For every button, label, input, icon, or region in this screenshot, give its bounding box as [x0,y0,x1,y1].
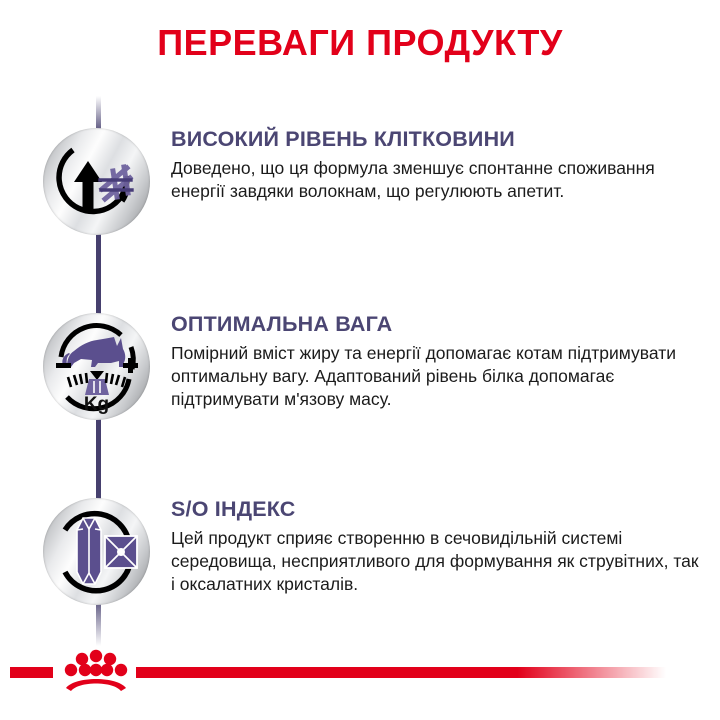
urinary-crystals-icon [43,498,150,605]
footer-bar-left [10,667,53,678]
benefit-heading: ОПТИМАЛЬНА ВАГА [171,313,699,336]
benefit-copy: ОПТИМАЛЬНА ВАГА Помірний вміст жиру та е… [171,313,699,411]
benefit-body: Доведено, що ця формула зменшує спонтанн… [171,157,699,203]
benefit-copy: ВИСОКИЙ РІВЕНЬ КЛІТКОВИНИ Доведено, що ц… [171,128,699,203]
product-benefits-page: ПЕРЕВАГИ ПРОДУКТУ [0,0,720,720]
royal-canin-crown-logo [57,643,135,703]
benefit-body: Цей продукт сприяє створенню в сечовиділ… [171,527,699,596]
svg-text:Kg: Kg [84,394,109,415]
footer-bar-right [136,667,666,678]
cat-weight-scale-icon: Kg [43,313,150,420]
benefit-copy: S/O ІНДЕКС Цей продукт сприяє створенню … [171,498,699,596]
benefit-body: Помірний вміст жиру та енергії допомагає… [171,342,699,411]
benefit-heading: ВИСОКИЙ РІВЕНЬ КЛІТКОВИНИ [171,128,699,151]
benefit-heading: S/O ІНДЕКС [171,498,699,521]
page-title: ПЕРЕВАГИ ПРОДУКТУ [0,22,720,64]
footer [0,640,720,720]
fiber-arrow-icon [43,128,150,235]
